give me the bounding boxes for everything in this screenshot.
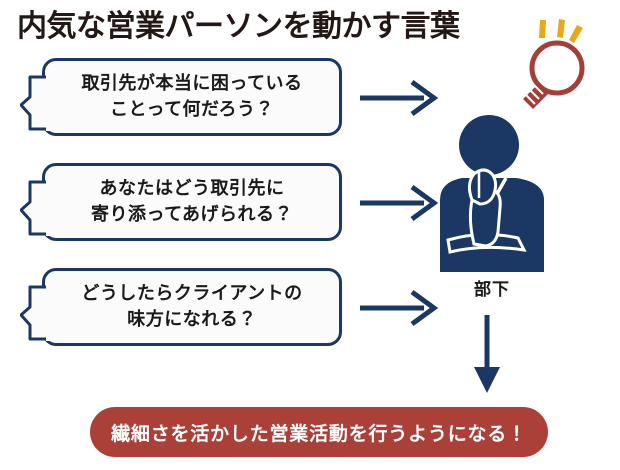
outcome-banner: 繊細さを活かした営業活動を行うようになる！ (90, 407, 548, 457)
person-label: 部下 (432, 275, 552, 300)
speech-bubble-2: あなたはどう取引先に 寄り添ってあげられる？ (42, 163, 342, 241)
thinking-person-icon (432, 112, 552, 272)
bubble-tail-icon (20, 180, 50, 236)
bubble-tail-icon (20, 75, 50, 131)
speech-bubble-1: 取引先が本当に困っている ことって何だろう？ (42, 58, 342, 136)
lightbulb-rays-icon (539, 19, 583, 43)
infographic-canvas: 内気な営業パーソンを動かす言葉 取引先が本当に困っている ことって何だろう？ あ… (0, 0, 620, 470)
bubble-tail-icon (20, 285, 50, 341)
arrow-right-icon-2 (358, 183, 442, 223)
arrow-right-icon-1 (358, 78, 442, 118)
speech-bubble-2-text: あなたはどう取引先に 寄り添ってあげられる？ (91, 176, 293, 227)
outcome-banner-text: 繊細さを活かした営業活動を行うようになる！ (111, 419, 527, 446)
page-title: 内気な営業パーソンを動かす言葉 (17, 6, 497, 48)
arrow-down-icon (468, 315, 506, 395)
speech-bubble-3: どうしたらクライアントの 味方になれる？ (42, 268, 342, 346)
arrow-right-icon-3 (358, 288, 442, 328)
lightbulb-icon (502, 12, 598, 112)
speech-bubble-3-text: どうしたらクライアントの 味方になれる？ (81, 281, 302, 332)
speech-bubble-1-text: 取引先が本当に困っている ことって何だろう？ (81, 71, 302, 122)
